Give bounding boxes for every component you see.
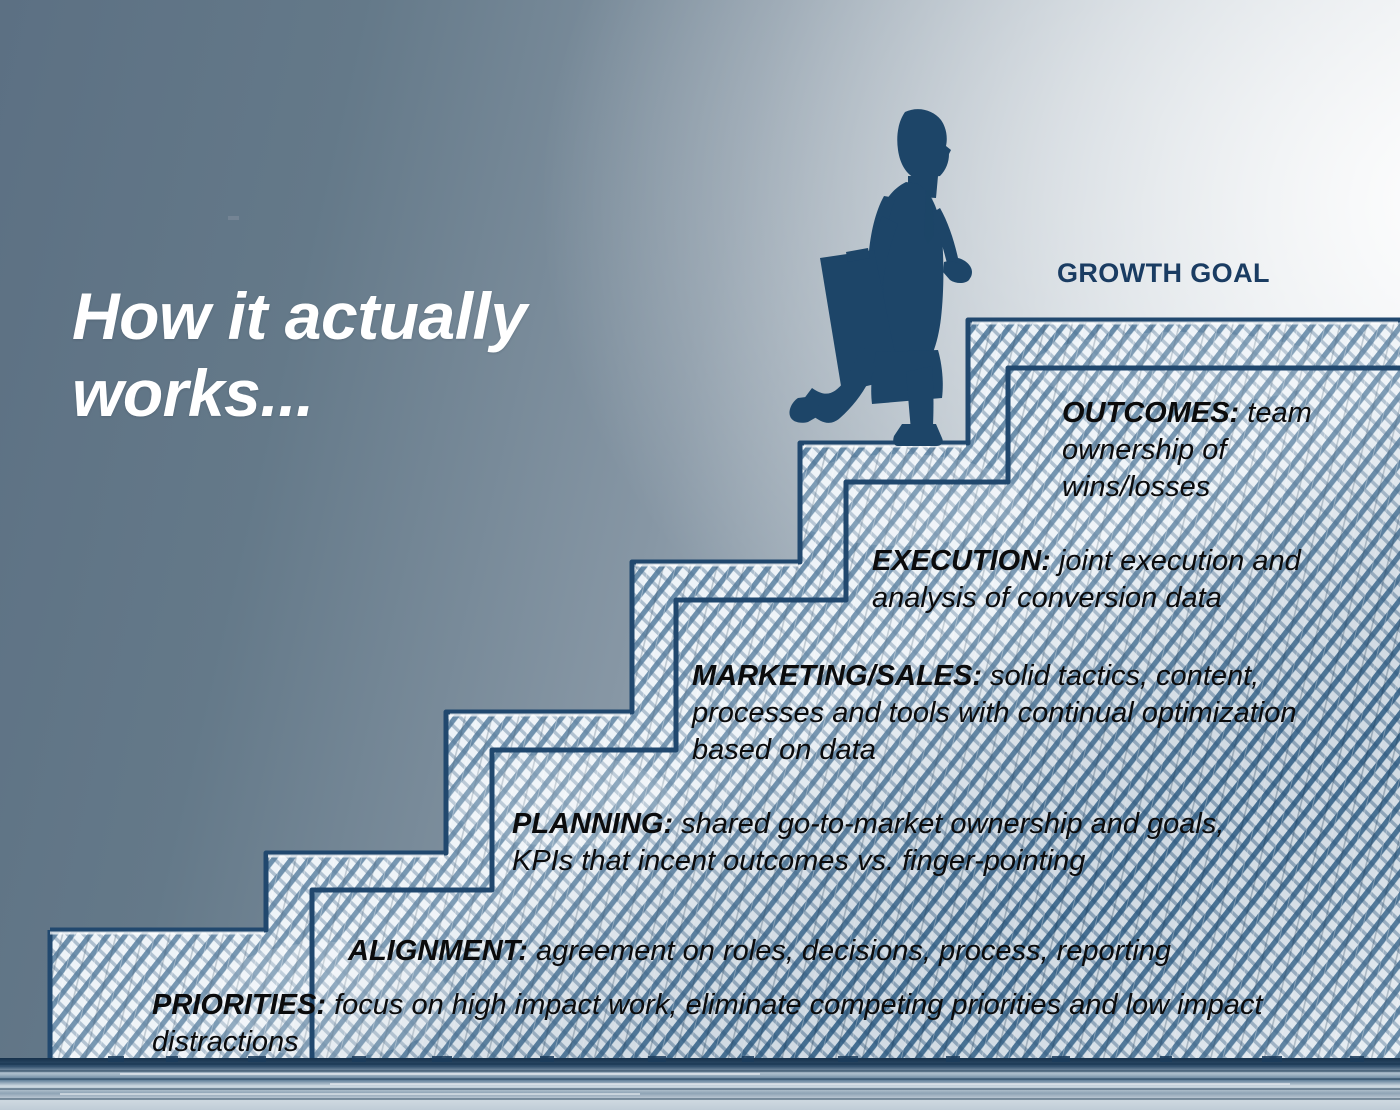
step-heading-priorities: PRIORITIES: [152, 989, 326, 1021]
title-line-1: How it actually [72, 279, 527, 353]
growth-goal-label: GROWTH GOAL [1057, 258, 1270, 289]
step-heading-outcomes: OUTCOMES: [1062, 397, 1239, 429]
infographic-canvas: How it actually works... GROWTH GOAL OUT… [0, 0, 1400, 1110]
ground-line [0, 1056, 1400, 1110]
step-caption-alignment: ALIGNMENT: agreement on roles, decisions… [348, 933, 1348, 970]
step-caption-outcomes: OUTCOMES: team ownership of wins/losses [1062, 395, 1382, 506]
step-heading-marketing-sales: MARKETING/SALES: [692, 660, 982, 692]
title-line-2: works... [72, 356, 314, 430]
page-title: How it actually works... [72, 278, 692, 432]
step-caption-priorities: PRIORITIES: focus on high impact work, e… [152, 987, 1282, 1061]
step-caption-execution: EXECUTION: joint execution and analysis … [872, 543, 1400, 617]
step-body-alignment: agreement on roles, decisions, process, … [528, 935, 1171, 967]
step-heading-alignment: ALIGNMENT: [348, 935, 528, 967]
step-caption-marketing-sales: MARKETING/SALES: solid tactics, content,… [692, 658, 1382, 769]
step-caption-planning: PLANNING: shared go-to-market ownership … [512, 806, 1252, 880]
scan-speck [228, 216, 239, 220]
businessman-silhouette [789, 109, 972, 446]
step-heading-execution: EXECUTION: [872, 545, 1051, 577]
step-heading-planning: PLANNING: [512, 808, 673, 840]
